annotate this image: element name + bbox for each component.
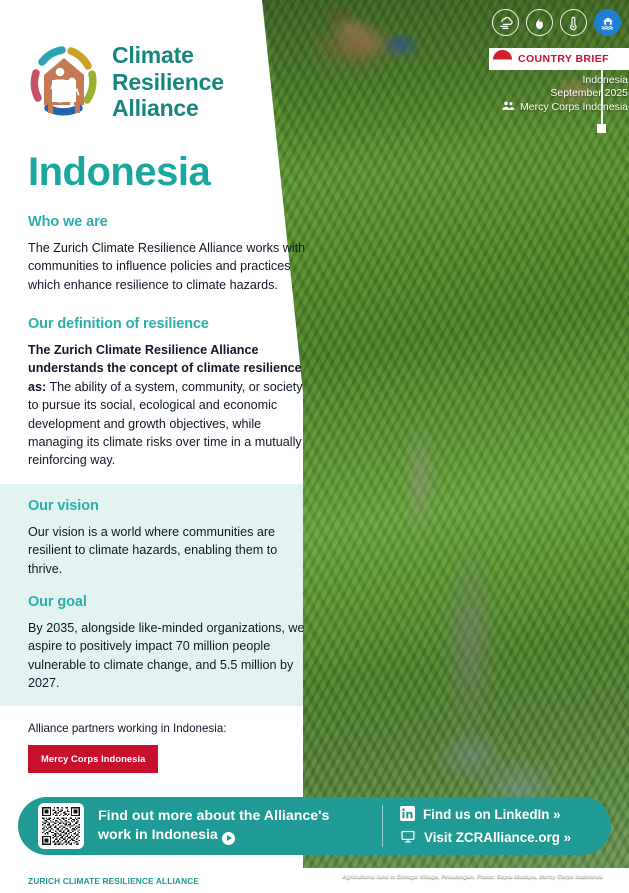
section-heading: Our definition of resilience — [28, 316, 314, 332]
section-definition-of-resilience: Our definition of resilience The Zurich … — [28, 316, 314, 470]
section-heading: Our goal — [28, 594, 314, 610]
country-brief-badge: COUNTRY BRIEF — [489, 48, 629, 70]
section-alliance-partners: Alliance partners working in Indonesia: … — [28, 722, 314, 773]
section-who-we-are: Who we are The Zurich Climate Resilience… — [28, 214, 314, 294]
meta-country: Indonesia — [380, 74, 628, 87]
monitor-icon — [400, 829, 416, 847]
section-body: By 2035, alongside like-minded organizat… — [28, 619, 314, 693]
cta-headline-line-1: Find out more about the Alliance's — [98, 807, 329, 826]
logo-wordmark: Climate Resilience Alliance — [112, 42, 224, 122]
wildfire-icon[interactable] — [526, 9, 553, 36]
section-body-rest: The ability of a system, community, or s… — [28, 380, 303, 468]
play-circle-icon[interactable] — [222, 832, 235, 845]
partner-logo-mercy-corps-indonesia[interactable]: Mercy Corps Indonesia — [28, 745, 158, 773]
logo-word-line-1: Climate — [112, 42, 224, 69]
cta-headline: Find out more about the Alliance's work … — [98, 807, 329, 845]
call-to-action-bar: Find out more about the Alliance's work … — [18, 797, 611, 855]
link-website-label: Visit ZCRAlliance.org » — [424, 830, 571, 845]
meta-date: September 2025 — [380, 87, 628, 100]
flood-icon[interactable] — [594, 9, 621, 36]
section-heading: Who we are — [28, 214, 314, 230]
qr-code-icon[interactable] — [38, 803, 84, 849]
link-linkedin[interactable]: Find us on LinkedIn » — [400, 806, 571, 824]
link-linkedin-label: Find us on LinkedIn » — [423, 807, 561, 822]
heat-thermometer-icon[interactable] — [560, 9, 587, 36]
footer-brand-name: ZURICH CLIMATE RESILIENCE ALLIANCE — [28, 868, 199, 893]
badge-pole-base — [597, 124, 606, 133]
section-body: The Zurich Climate Resilience Alliance u… — [28, 341, 314, 470]
indonesia-flag-icon — [493, 50, 512, 69]
logo-word-line-3: Alliance — [112, 95, 224, 122]
partners-label: Alliance partners working in Indonesia: — [28, 722, 314, 735]
hazard-icon-row — [492, 9, 621, 36]
section-heading: Our vision — [28, 498, 314, 514]
people-icon — [502, 100, 515, 115]
cta-headline-line-2: work in Indonesia — [98, 827, 218, 843]
logo-word-line-2: Resilience — [112, 69, 224, 96]
photo-credit: Agricultural land in Simego Village, Pek… — [320, 868, 625, 885]
linkedin-icon — [400, 806, 415, 824]
section-body: The Zurich Climate Resilience Alliance w… — [28, 239, 314, 294]
page-title: Indonesia — [28, 150, 210, 195]
climate-resilience-alliance-logo-mark — [22, 36, 106, 128]
cta-links: Find us on LinkedIn » Visit ZCRAlliance.… — [383, 806, 571, 847]
section-our-vision: Our vision Our vision is a world where c… — [28, 498, 314, 578]
cta-headline-line-2-wrap: work in Indonesia — [98, 826, 329, 845]
storm-wind-icon[interactable] — [492, 9, 519, 36]
country-brief-label: COUNTRY BRIEF — [518, 53, 609, 65]
meta-organization: Mercy Corps Indonesia — [520, 101, 628, 114]
section-body: Our vision is a world where communities … — [28, 523, 314, 578]
link-website[interactable]: Visit ZCRAlliance.org » — [400, 829, 571, 847]
cta-find-out-more[interactable]: Find out more about the Alliance's work … — [18, 803, 382, 849]
country-brief-page: COUNTRY BRIEF Indonesia September 2025 M… — [0, 0, 629, 893]
section-our-goal: Our goal By 2035, alongside like-minded … — [28, 594, 314, 693]
brief-metadata: Indonesia September 2025 Mercy Corps Ind… — [380, 74, 628, 116]
